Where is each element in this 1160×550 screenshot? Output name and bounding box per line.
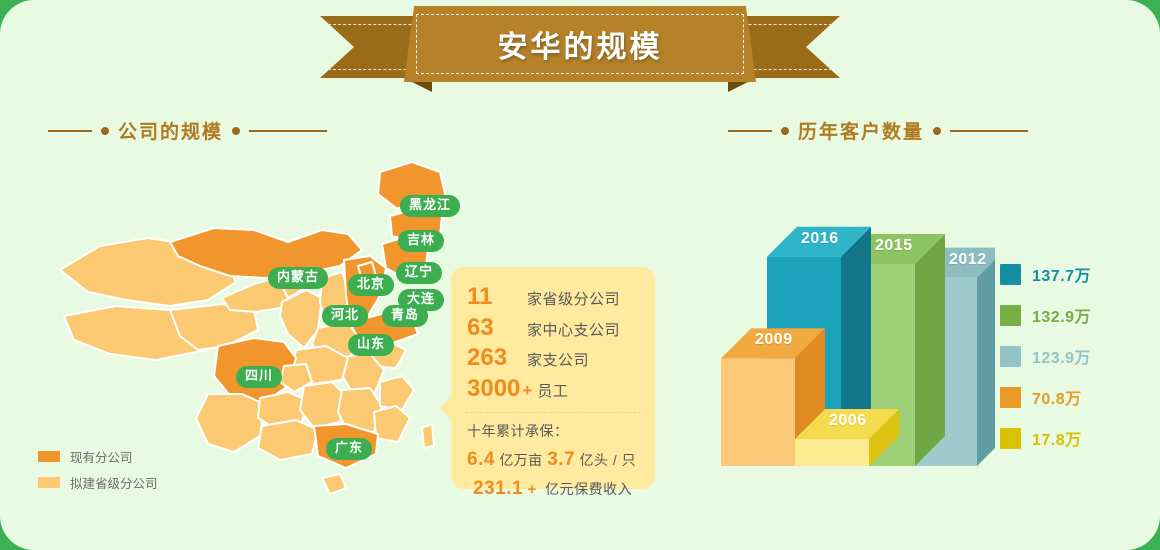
header-line-right xyxy=(950,130,1028,132)
map-legend-label: 现有分公司 xyxy=(70,447,133,466)
section-header-right-label: 历年客户数量 xyxy=(798,117,924,144)
bar-side-face xyxy=(977,248,995,466)
employees-label: 员工 xyxy=(537,380,568,401)
premium-value: 231.1 xyxy=(473,478,523,499)
coverage-unit-2: 亿头 / 只 xyxy=(580,452,637,468)
bar-year-label: 2015 xyxy=(875,237,913,255)
section-header-customer-count: 历年客户数量 xyxy=(728,117,1028,144)
chart-legend-row: 17.8万 xyxy=(1000,426,1091,450)
stats-coverage-line-1: 6.4 亿万亩 3.7 亿头 / 只 xyxy=(451,446,655,475)
map-legend: 现有分公司拟建省级分公司 xyxy=(38,447,158,499)
chart-legend-value: 17.8万 xyxy=(1032,426,1082,450)
map-label-pill: 青岛 xyxy=(382,305,428,327)
stats-label: 家省级分公司 xyxy=(527,288,620,309)
chart-legend: 137.7万132.9万123.9万70.8万17.8万 xyxy=(1000,262,1091,467)
stats-number: 11 xyxy=(467,283,527,311)
map-label-pill: 河北 xyxy=(322,305,368,327)
header-dot-left xyxy=(781,127,789,135)
header-line-right xyxy=(249,130,327,132)
stats-row: 11家省级分公司 xyxy=(451,283,655,311)
stats-row-employees: 3000 + 员工 xyxy=(451,375,655,403)
bar-chart-svg xyxy=(705,178,995,478)
bar-year-label: 2009 xyxy=(755,331,793,349)
premium-unit: 亿元保费收入 xyxy=(545,481,632,497)
header-line-left xyxy=(728,130,772,132)
bar-chart: 20122015201620092006 xyxy=(705,178,995,478)
stats-label: 家中心支公司 xyxy=(527,319,620,340)
chart-legend-value: 123.9万 xyxy=(1032,344,1091,368)
map-legend-label: 拟建省级分公司 xyxy=(70,473,158,492)
title-ribbon: 安华的规模 xyxy=(0,2,1160,94)
stats-coverage-line-2: 231.1 + 亿元保费收入 xyxy=(451,475,655,504)
map-label-pill: 辽宁 xyxy=(396,262,442,284)
bar-year-label: 2012 xyxy=(949,251,987,269)
bar-front-face xyxy=(795,439,869,466)
employees-number: 3000 xyxy=(467,375,520,403)
chart-legend-swatch xyxy=(1000,428,1021,449)
stats-rows: 11家省级分公司63家中心支公司263家支公司 xyxy=(451,283,655,372)
stats-number: 63 xyxy=(467,314,527,342)
stats-divider xyxy=(465,412,641,413)
map-label-pill: 内蒙古 xyxy=(268,267,328,289)
chart-legend-value: 137.7万 xyxy=(1032,262,1091,286)
bar-year-label: 2016 xyxy=(801,230,839,248)
chart-legend-swatch xyxy=(1000,264,1021,285)
employees-plus: + xyxy=(522,381,532,401)
map-legend-swatch xyxy=(38,451,60,462)
ribbon-center: 安华的规模 xyxy=(404,6,756,82)
header-dot-right xyxy=(933,127,941,135)
section-header-left-label: 公司的规模 xyxy=(118,117,223,144)
bar-year-label: 2006 xyxy=(829,412,867,430)
bar-front-face xyxy=(721,358,795,466)
coverage-value-1: 6.4 xyxy=(467,449,495,470)
map-label-pill: 广东 xyxy=(326,438,372,460)
chart-legend-value: 70.8万 xyxy=(1032,385,1082,409)
chart-legend-row: 132.9万 xyxy=(1000,303,1091,327)
stats-subtitle: 十年累计承保： xyxy=(451,421,655,441)
map-label-pill: 四川 xyxy=(236,366,282,388)
map-label-pill: 吉林 xyxy=(398,230,444,252)
coverage-unit-1: 亿万亩 xyxy=(499,452,543,468)
chart-legend-row: 123.9万 xyxy=(1000,344,1091,368)
map-legend-row: 现有分公司 xyxy=(38,447,158,466)
stats-row: 63家中心支公司 xyxy=(451,314,655,342)
chart-legend-swatch xyxy=(1000,346,1021,367)
chart-legend-value: 132.9万 xyxy=(1032,303,1091,327)
header-line-left xyxy=(48,130,92,132)
page-title: 安华的规模 xyxy=(498,22,663,66)
infographic-card: 安华的规模 公司的规模 历年客户数量 xyxy=(0,0,1160,550)
coverage-value-2: 3.7 xyxy=(547,449,575,470)
stats-label: 家支公司 xyxy=(527,349,589,370)
map-label-pill: 山东 xyxy=(348,334,394,356)
stats-panel: 11家省级分公司63家中心支公司263家支公司 3000 + 员工 十年累计承保… xyxy=(451,267,655,489)
map-legend-row: 拟建省级分公司 xyxy=(38,473,158,492)
stats-number: 263 xyxy=(467,344,527,372)
section-header-company-scale: 公司的规模 xyxy=(48,117,327,144)
map-legend-swatch xyxy=(38,477,60,488)
bar-side-face xyxy=(915,234,945,466)
header-dot-right xyxy=(232,127,240,135)
map-label-pill: 北京 xyxy=(348,274,394,296)
chart-legend-swatch xyxy=(1000,387,1021,408)
chart-legend-row: 70.8万 xyxy=(1000,385,1091,409)
header-dot-left xyxy=(101,127,109,135)
map-label-pill: 黑龙江 xyxy=(400,195,460,217)
premium-plus: + xyxy=(527,481,536,498)
chart-legend-swatch xyxy=(1000,305,1021,326)
chart-legend-row: 137.7万 xyxy=(1000,262,1091,286)
stats-row: 263家支公司 xyxy=(451,344,655,372)
